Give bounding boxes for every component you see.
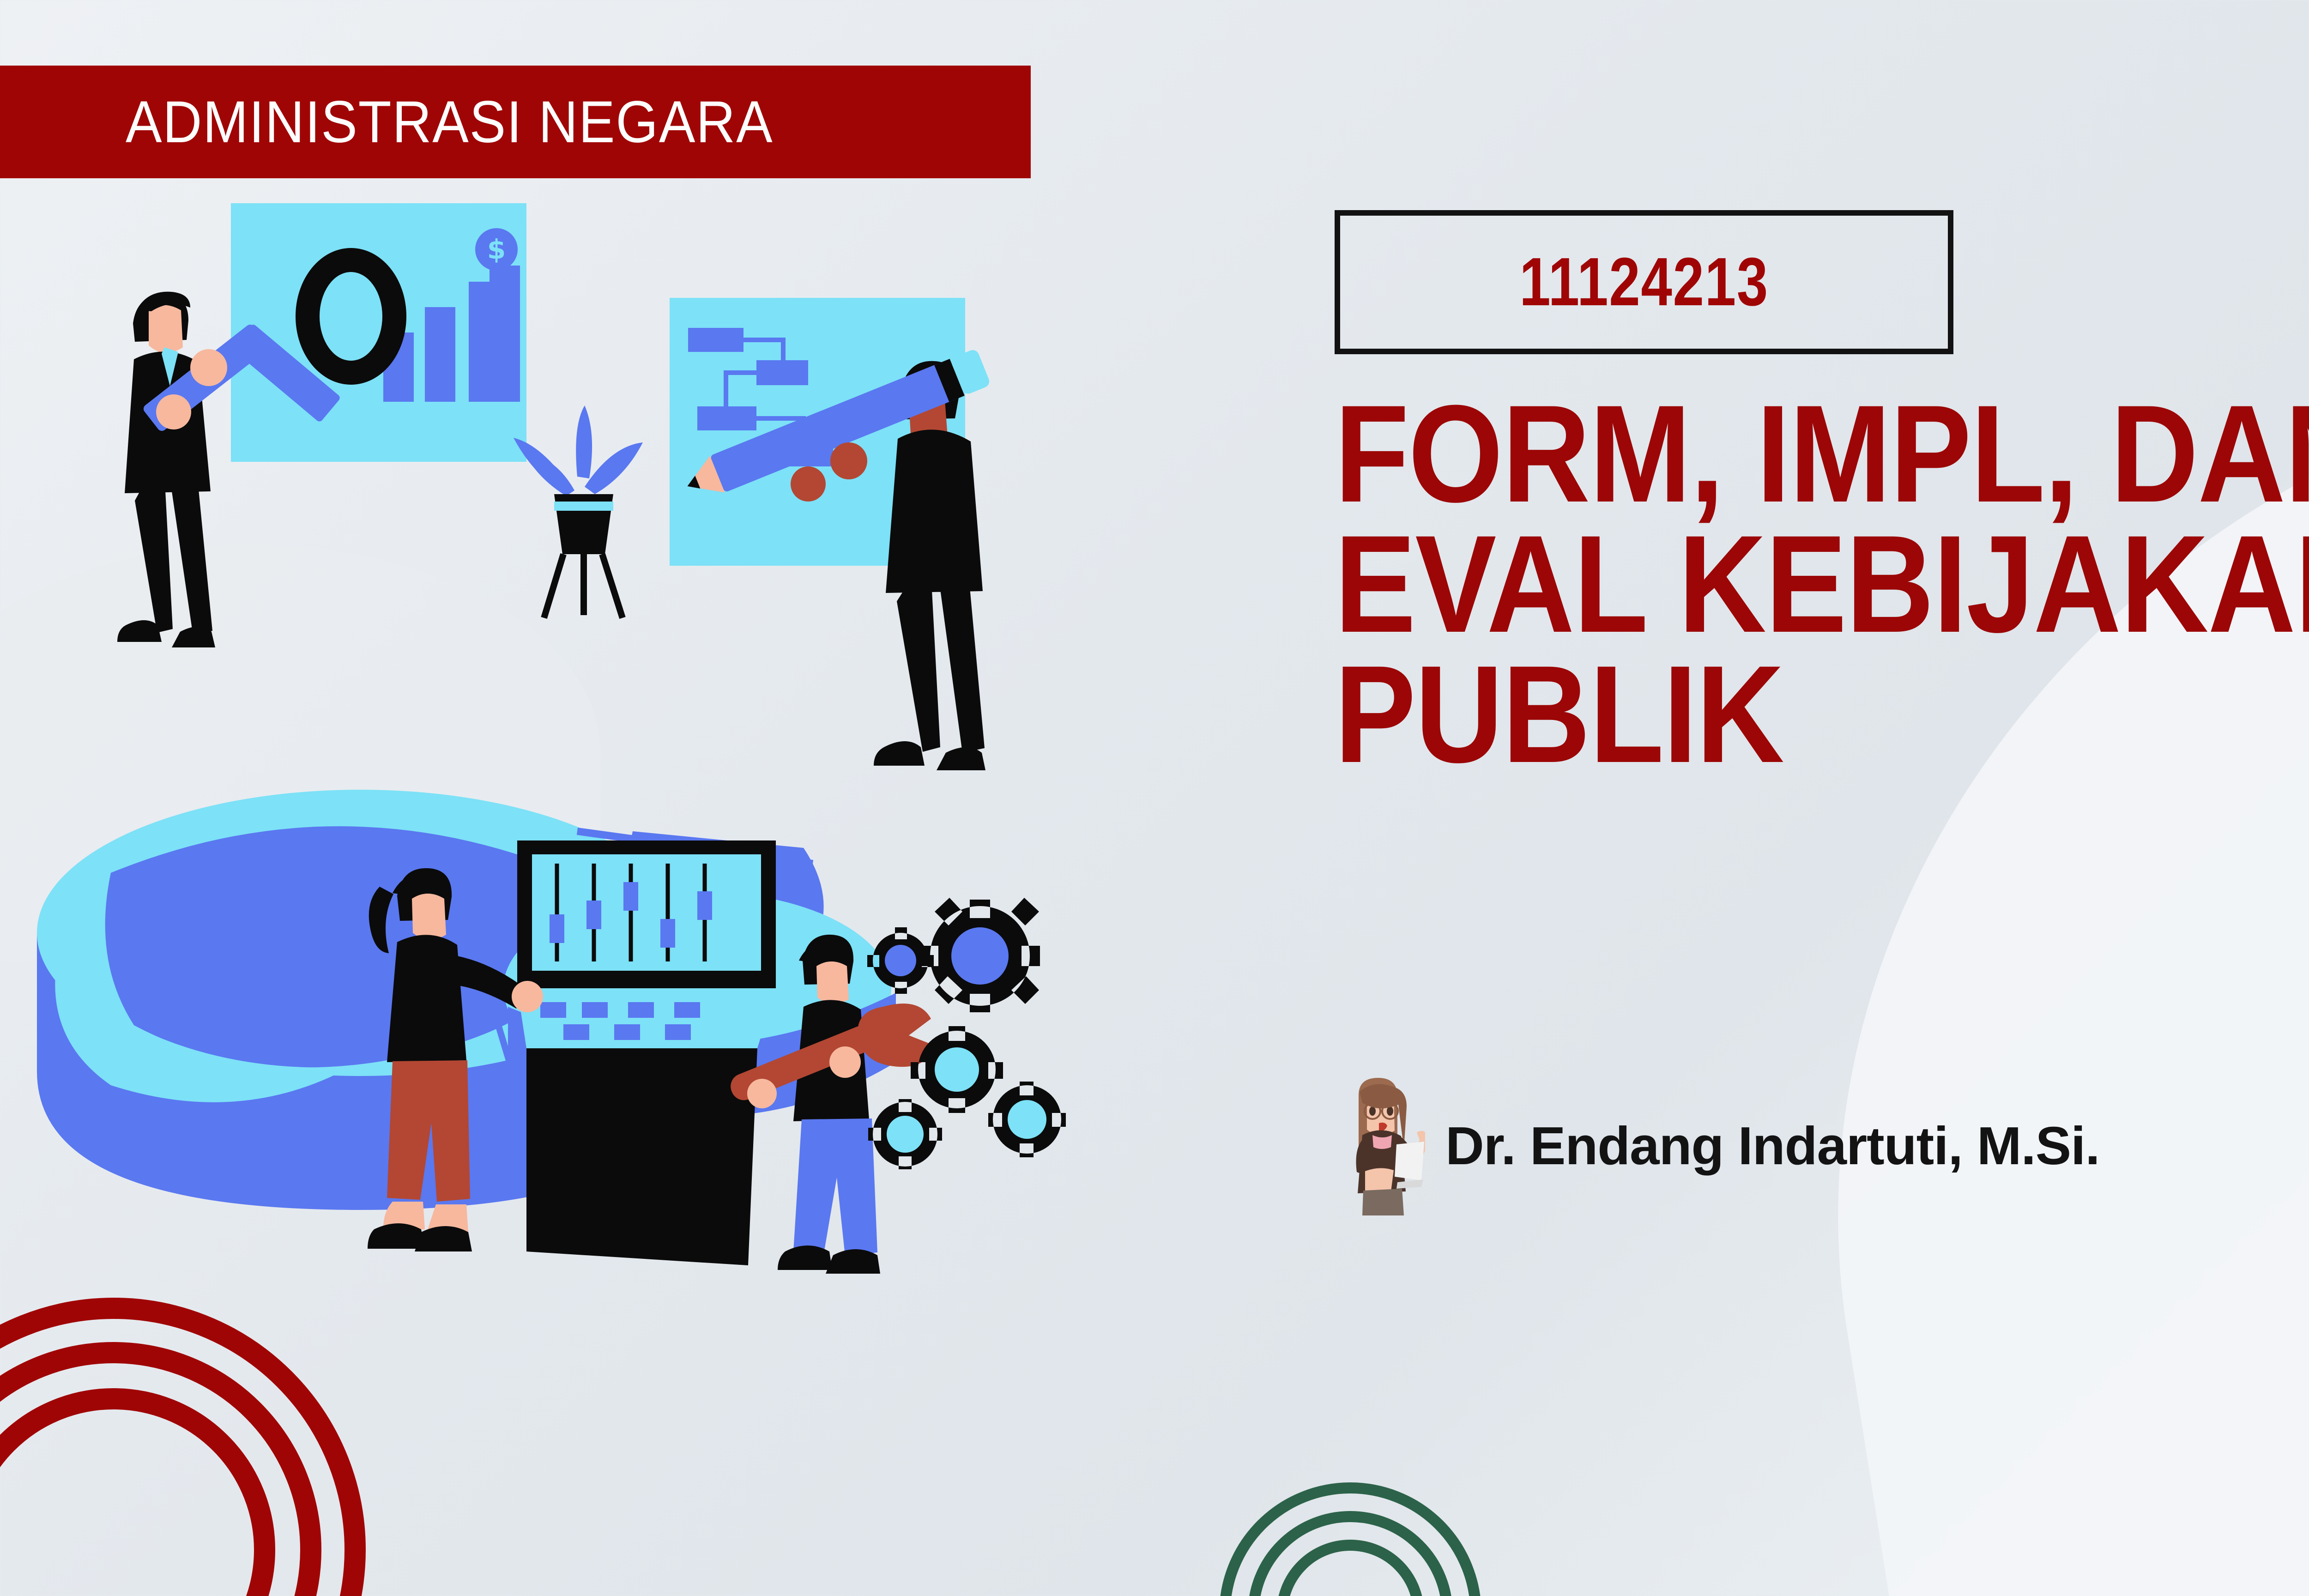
course-code-box: 11124213 — [1335, 210, 1953, 354]
page-title-line-1: FORM, IMPL, DAN — [1335, 388, 2309, 519]
presenter-block: Dr. Endang Indartuti, M.Si. — [1335, 1075, 2100, 1216]
teacher-avatar-icon — [1335, 1075, 1425, 1216]
page-title: FORM, IMPL, DAN EVAL KEBIJAKAN PUBLIK — [1335, 388, 2309, 779]
decor-rings-bottom-left — [0, 1298, 323, 1596]
decor-rings-bottom-center — [1219, 1482, 1459, 1596]
main-content-column: 11124213 FORM, IMPL, DAN EVAL KEBIJAKAN … — [1335, 210, 2309, 779]
svg-text:$: $ — [487, 234, 506, 265]
category-banner-label: ADMINISTRASI NEGARA — [126, 88, 773, 156]
page-title-line-2: EVAL KEBIJAKAN — [1335, 519, 2309, 649]
category-banner: ADMINISTRASI NEGARA — [0, 66, 1031, 178]
course-code-value: 11124213 — [1519, 243, 1769, 321]
presenter-name: Dr. Endang Indartuti, M.Si. — [1445, 1115, 2100, 1177]
policy-illustration: $ — [28, 175, 1145, 1358]
slide-canvas: ADMINISTRASI NEGARA UNIVERSITAS 17 AGUST… — [0, 0, 2309, 1596]
page-title-line-3: PUBLIK — [1335, 649, 2309, 779]
